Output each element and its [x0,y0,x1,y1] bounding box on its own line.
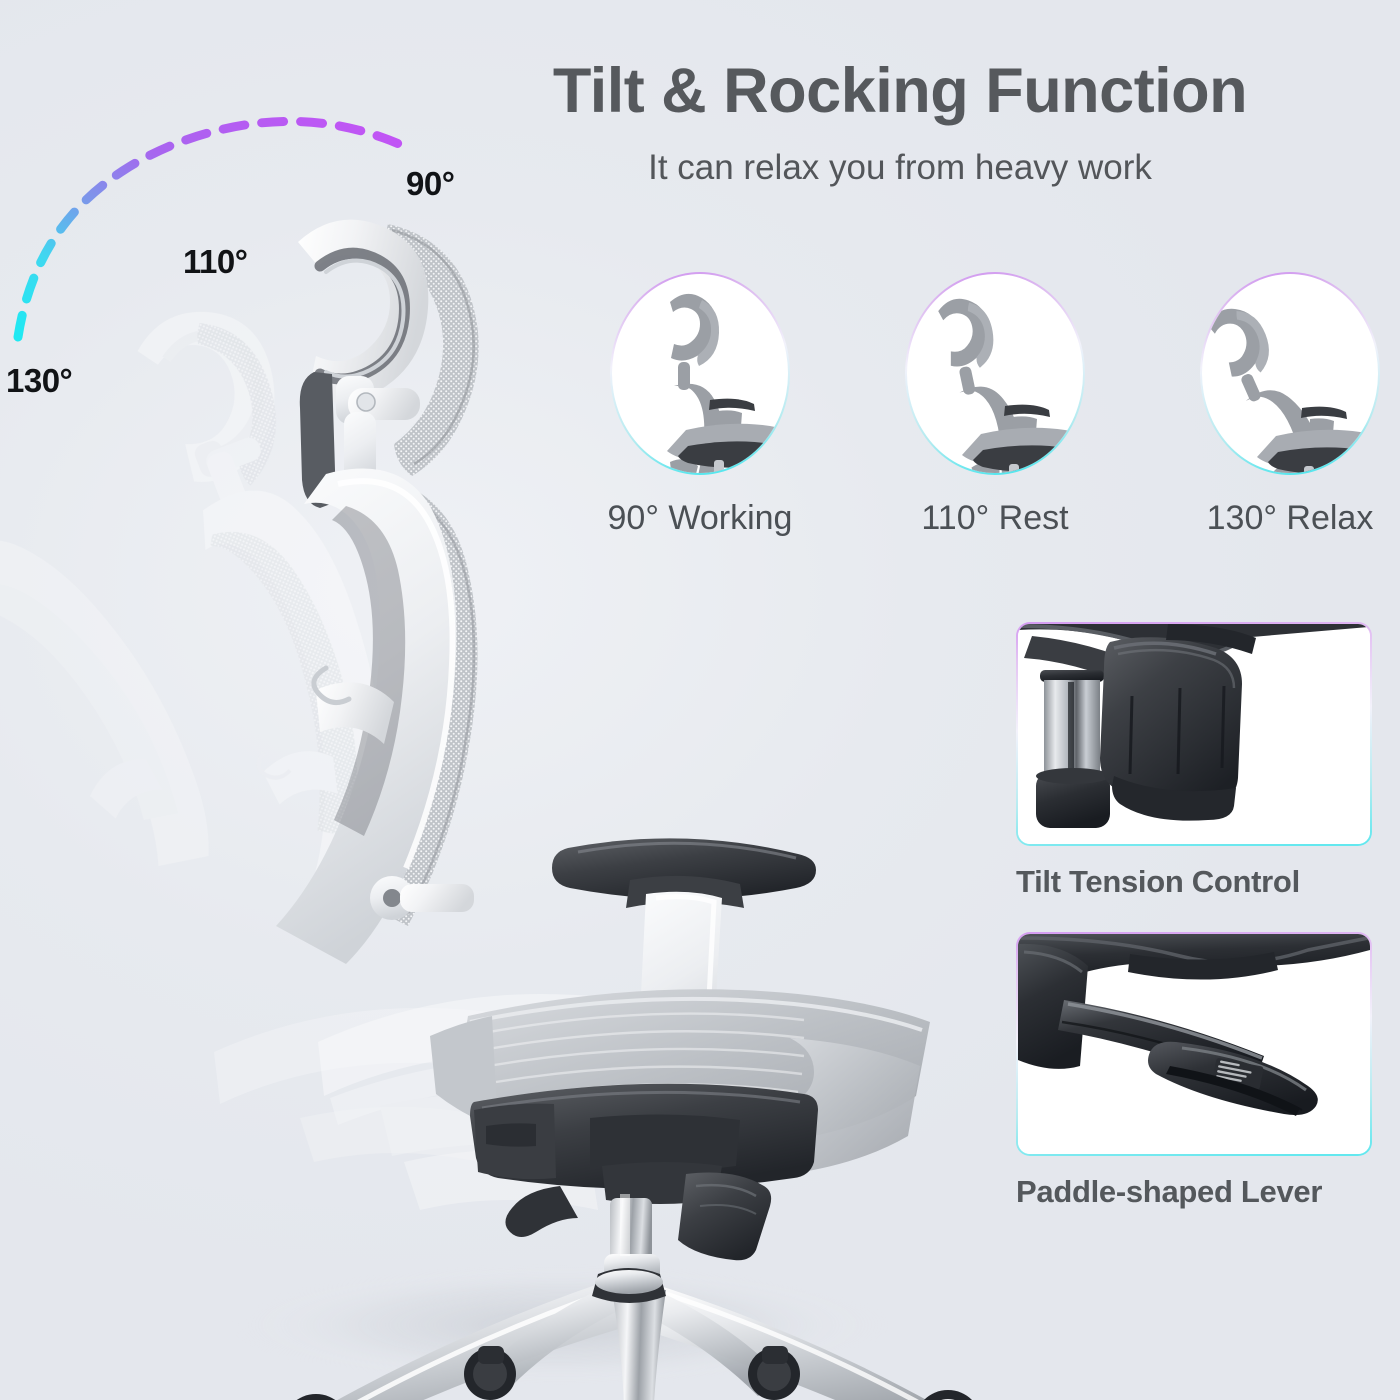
header: Tilt & Rocking Function It can relax you… [420,58,1380,188]
state-label-working: 90° Working [608,499,793,538]
chair-130-degree-badge[interactable] [1200,272,1380,475]
chair-90-degree-badge[interactable] [610,272,790,475]
angle-marker-110: 110° [183,243,247,281]
angle-marker-130: 130° [6,362,72,400]
feature-label-paddle-lever: Paddle-shaped Lever [1016,1174,1372,1210]
chair-90-degree-icon [612,274,788,473]
caster-back-right [914,1390,982,1400]
feature-label-tilt-tension: Tilt Tension Control [1016,864,1372,900]
dashed-arc-icon [0,100,440,380]
chair-110-degree-badge[interactable] [905,272,1085,475]
state-item-working[interactable]: 90° Working [600,272,800,538]
page-subtitle: It can relax you from heavy work [420,148,1380,188]
recline-state-list: 90° Working [600,272,1390,538]
paddle-lever-photo [1018,934,1370,1154]
feature-paddle-lever[interactable]: Paddle-shaped Lever [1016,932,1372,1210]
state-label-rest: 110° Rest [921,499,1068,538]
tilt-tension-knob-photo [1018,624,1370,844]
chair-130-degree-icon [1202,274,1378,473]
state-item-relax[interactable]: 130° Relax [1190,272,1390,538]
feature-tilt-tension-control[interactable]: Tilt Tension Control [1016,622,1372,900]
chair-110-degree-icon [907,274,1083,473]
state-label-relax: 130° Relax [1207,499,1374,538]
state-item-rest[interactable]: 110° Rest [895,272,1095,538]
page-title: Tilt & Rocking Function [420,58,1380,124]
infographic-root: 130° 110° 90° Tilt & Rocking Function It… [0,0,1400,1400]
